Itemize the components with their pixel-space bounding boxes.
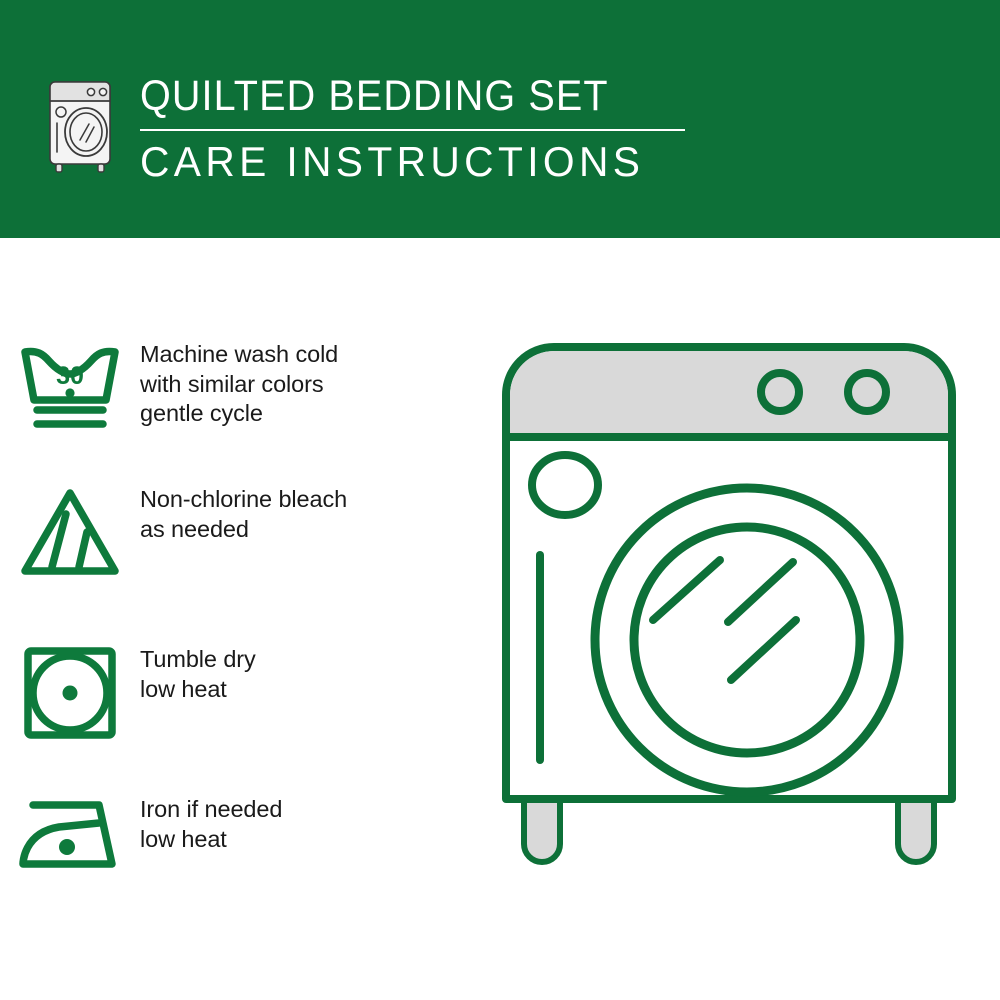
front-load-washing-machine-illustration	[480, 320, 1000, 945]
care-item-wash: 30 Machine wash cold with similar colors…	[0, 338, 480, 434]
care-instruction-list: 30 Machine wash cold with similar colors…	[0, 238, 480, 1000]
care-text-line: with similar colors	[140, 370, 338, 400]
header-title-group: QUILTED BEDDING SET CARE INSTRUCTIONS	[140, 72, 700, 186]
care-item-bleach: Non-chlorine bleach as needed	[0, 483, 480, 581]
tumble-dry-low-heat-icon	[0, 643, 140, 743]
washing-machine-icon	[47, 72, 119, 174]
non-chlorine-bleach-triangle-icon	[0, 483, 140, 581]
care-item-iron-text: Iron if needed low heat	[140, 793, 282, 854]
page-subtitle: CARE INSTRUCTIONS	[140, 138, 683, 186]
header-banner: QUILTED BEDDING SET CARE INSTRUCTIONS	[0, 0, 1000, 238]
title-divider	[140, 129, 685, 131]
care-text-line: Iron if needed	[140, 795, 282, 825]
page-title: QUILTED BEDDING SET	[140, 72, 655, 120]
care-item-tumble-dry: Tumble dry low heat	[0, 643, 480, 743]
wash-basin-30-gentle-icon: 30	[0, 338, 140, 434]
wash-temperature-label: 30	[56, 362, 84, 390]
care-item-iron: Iron if needed low heat	[0, 793, 480, 877]
care-text-line: as needed	[140, 515, 347, 545]
care-item-tumble-dry-text: Tumble dry low heat	[140, 643, 256, 704]
care-text-line: low heat	[140, 825, 282, 855]
care-instructions-infographic: QUILTED BEDDING SET CARE INSTRUCTIONS 30	[0, 0, 1000, 1000]
care-text-line: Non-chlorine bleach	[140, 485, 347, 515]
care-text-line: low heat	[140, 675, 256, 705]
care-text-line: Machine wash cold	[140, 340, 338, 370]
care-item-wash-text: Machine wash cold with similar colors ge…	[140, 338, 338, 429]
care-text-line: Tumble dry	[140, 645, 256, 675]
care-item-bleach-text: Non-chlorine bleach as needed	[140, 483, 347, 544]
iron-low-heat-icon	[0, 793, 140, 877]
care-text-line: gentle cycle	[140, 399, 338, 429]
